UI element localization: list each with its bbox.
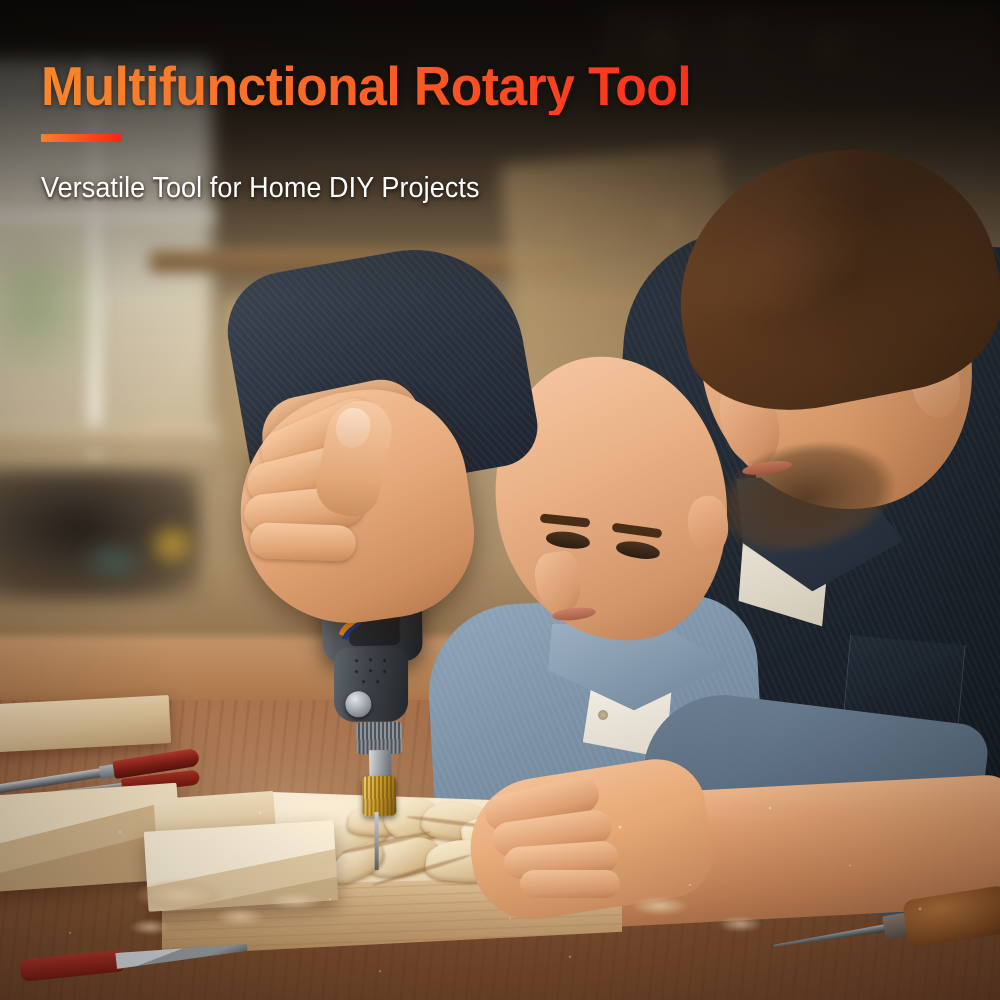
rotary-tool-air-vents [351, 656, 391, 686]
rotary-tool-brass-collet[interactable] [362, 776, 397, 817]
boy-shirt-button [598, 710, 608, 720]
background-teal-box [78, 540, 148, 582]
page-title: Multifunctional Rotary Tool [41, 58, 755, 115]
product-banner: TUNGFULL Multifunctio [0, 0, 1000, 1000]
background-yellow-tape-measure [145, 520, 200, 570]
wood-shavings [120, 865, 380, 955]
banner-text-block: Multifunctional Rotary Tool Versatile To… [41, 58, 801, 205]
window-sill [0, 425, 220, 455]
rotary-tool-carving-bit [375, 812, 379, 870]
title-accent-rule [41, 134, 122, 142]
wood-shavings [600, 880, 840, 950]
man-grip-finger [249, 522, 356, 562]
wood-block [0, 695, 171, 753]
window-mullion-horizontal [0, 210, 214, 222]
page-subtitle: Versatile Tool for Home DIY Projects [41, 172, 748, 205]
window-foliage-outside [0, 230, 100, 380]
